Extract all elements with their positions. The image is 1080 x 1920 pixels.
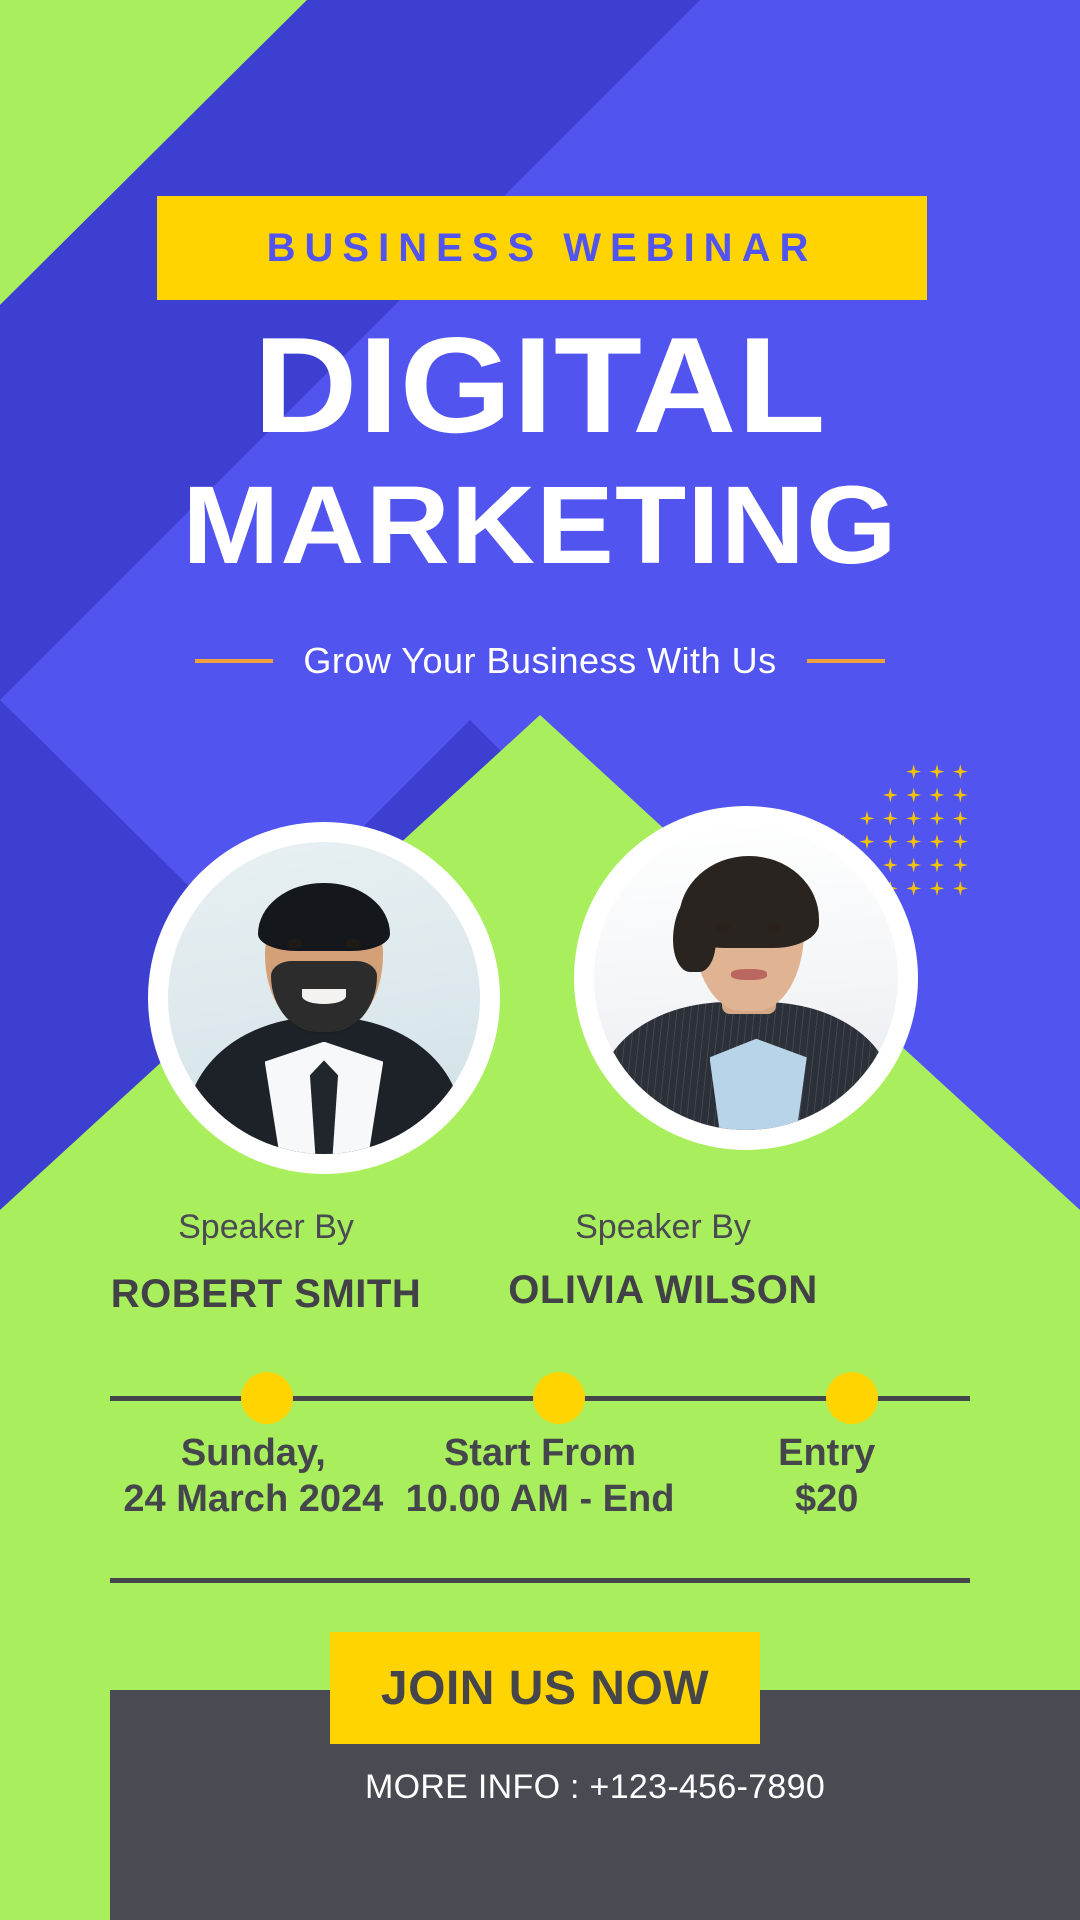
- avatar-photo-male: [168, 842, 480, 1154]
- detail-1-head: Sunday,: [110, 1430, 397, 1476]
- four-point-star-icon: [902, 853, 925, 876]
- speaker-2-name: OLIVIA WILSON: [483, 1268, 843, 1313]
- speaker-1-role: Speaker By: [86, 1208, 446, 1247]
- detail-2-head: Start From: [397, 1430, 684, 1476]
- four-point-star-icon: [949, 760, 972, 783]
- detail-3-head: Entry: [683, 1430, 970, 1476]
- detail-3-sub: $20: [683, 1476, 970, 1522]
- four-point-star-icon: [949, 807, 972, 830]
- detail-2-sub: 10.00 AM - End: [397, 1476, 684, 1522]
- four-point-star-icon: [902, 783, 925, 806]
- four-point-star-icon: [902, 877, 925, 900]
- four-point-star-icon: [925, 853, 948, 876]
- avatar-photo-female: [594, 826, 898, 1130]
- ribbon-label: BUSINESS WEBINAR: [267, 226, 818, 271]
- title-line-2: MARKETING: [0, 474, 1080, 578]
- four-point-star-icon: [925, 830, 948, 853]
- detail-1-sub: 24 March 2024: [110, 1476, 397, 1522]
- four-point-star-icon: [949, 853, 972, 876]
- four-point-star-icon: [925, 877, 948, 900]
- speaker-2-role: Speaker By: [483, 1208, 843, 1247]
- event-detail-time: Start From 10.00 AM - End: [397, 1430, 684, 1522]
- tagline-dash-left: [195, 659, 273, 663]
- four-point-star-icon: [902, 830, 925, 853]
- tagline-row: Grow Your Business With Us: [0, 640, 1080, 682]
- four-point-star-icon: [902, 760, 925, 783]
- event-details-row: Sunday, 24 March 2024 Start From 10.00 A…: [110, 1430, 970, 1522]
- four-point-star-icon: [949, 830, 972, 853]
- timeline-dot-2: [533, 1372, 585, 1424]
- four-point-star-icon: [925, 783, 948, 806]
- four-point-star-icon: [949, 783, 972, 806]
- four-point-star-icon: [879, 783, 902, 806]
- join-us-now-button[interactable]: JOIN US NOW: [330, 1632, 760, 1744]
- timeline-dot-3: [826, 1372, 878, 1424]
- tagline-text: Grow Your Business With Us: [303, 640, 776, 682]
- four-point-star-icon: [925, 807, 948, 830]
- webinar-poster: BUSINESS WEBINAR DIGITAL MARKETING Grow …: [0, 0, 1080, 1920]
- four-point-star-icon: [902, 807, 925, 830]
- section-divider: [110, 1578, 970, 1583]
- avatar-speaker-2: [574, 806, 918, 1150]
- avatar-speaker-1: [148, 822, 500, 1174]
- speaker-1-name: ROBERT SMITH: [86, 1272, 446, 1317]
- more-info-text: MORE INFO : +123-456-7890: [110, 1768, 1080, 1807]
- join-us-now-label: JOIN US NOW: [381, 1661, 709, 1716]
- four-point-star-icon: [949, 877, 972, 900]
- timeline-dot-1: [241, 1372, 293, 1424]
- four-point-star-icon: [925, 760, 948, 783]
- tagline-dash-right: [807, 659, 885, 663]
- event-detail-date: Sunday, 24 March 2024: [110, 1430, 397, 1522]
- event-detail-entry: Entry $20: [683, 1430, 970, 1522]
- business-webinar-ribbon: BUSINESS WEBINAR: [157, 196, 927, 300]
- title-line-1: DIGITAL: [0, 321, 1080, 449]
